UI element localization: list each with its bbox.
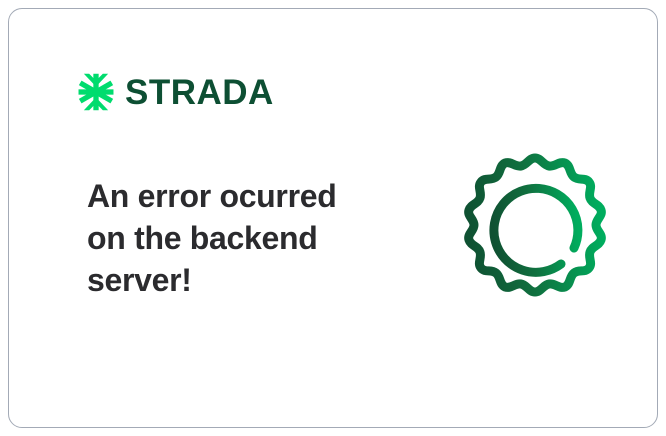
strada-asterisk-icon	[77, 73, 115, 111]
brand-name: STRADA	[125, 75, 274, 110]
gear-icon	[455, 149, 615, 311]
brand-logo: STRADA	[77, 73, 274, 111]
screen: STRADA An error ocurred on the backend s…	[0, 0, 666, 436]
error-message: An error ocurred on the backend server!	[87, 175, 377, 301]
error-card: STRADA An error ocurred on the backend s…	[8, 8, 658, 428]
